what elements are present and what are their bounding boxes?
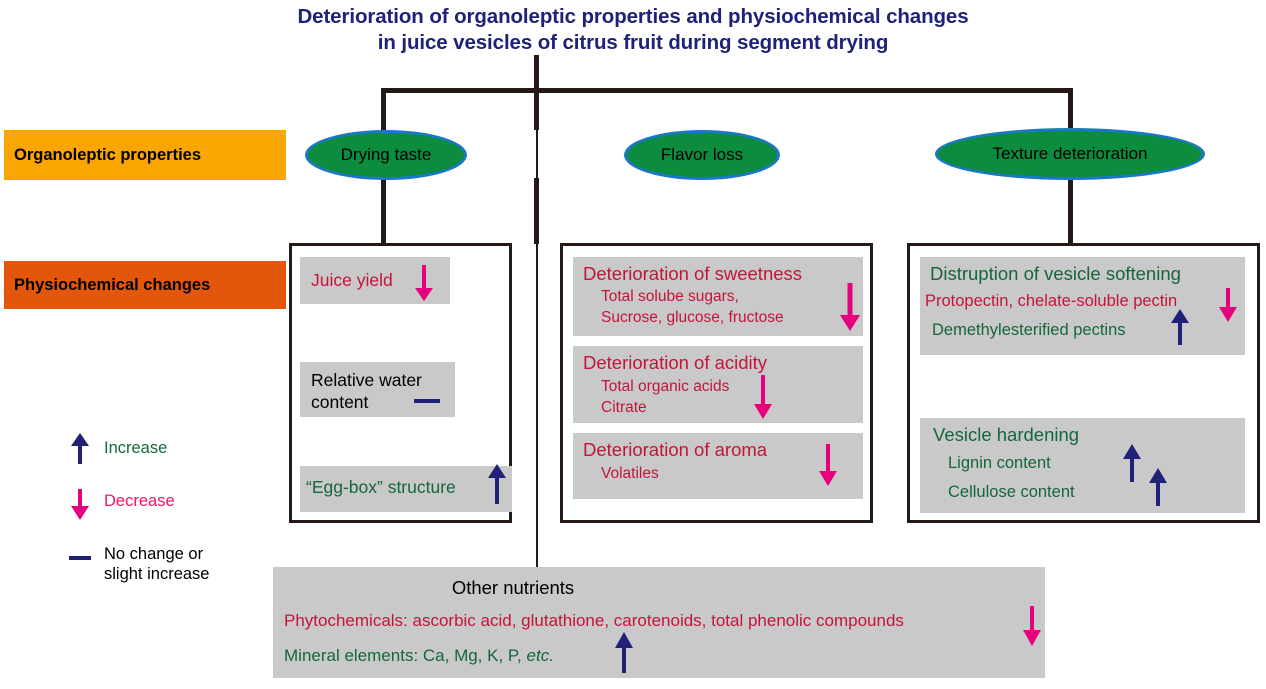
node-drying-taste-label: Drying taste bbox=[341, 145, 432, 165]
other-nutrients-phytochemicals: Phytochemicals: ascorbic acid, glutathio… bbox=[284, 611, 904, 631]
group-disruption-of-vesicle-softening: Distruption of vesicle softening Protope… bbox=[920, 257, 1245, 355]
category-label-physiochemical: Physiochemical changes bbox=[4, 261, 286, 309]
group-hardening-sub2: Cellulose content bbox=[948, 481, 1075, 503]
group-hardening-sub1: Lignin content bbox=[948, 452, 1051, 474]
group-hardening-heading: Vesicle hardening bbox=[933, 424, 1079, 446]
page-title: Deterioration of organoleptic properties… bbox=[0, 4, 1266, 56]
node-drying-taste[interactable]: Drying taste bbox=[305, 130, 467, 180]
group-vesicle-hardening: Vesicle hardening Lignin content Cellulo… bbox=[920, 418, 1245, 513]
item-relative-water-content-line1: Relative water bbox=[311, 369, 422, 391]
group-softening-sub2: Demethylesterified pectins bbox=[932, 319, 1126, 341]
legend-item-no-change-label-line1: No change or bbox=[104, 544, 209, 564]
other-nutrients-minerals-prefix: Mineral elements: Ca, Mg, K, P, bbox=[284, 646, 527, 665]
group-acidity-sub1: Total organic acids bbox=[601, 377, 729, 396]
node-flavor-loss-label: Flavor loss bbox=[661, 145, 743, 165]
legend-item-decrease-label: Decrease bbox=[104, 491, 175, 511]
panel-other-nutrients: Other nutrients Phytochemicals: ascorbic… bbox=[273, 567, 1045, 678]
up-arrow-icon bbox=[68, 432, 92, 466]
up-arrow-icon bbox=[486, 462, 508, 506]
down-arrow-icon bbox=[1021, 604, 1043, 648]
group-softening-heading: Distruption of vesicle softening bbox=[930, 263, 1181, 285]
up-arrow-icon bbox=[1147, 466, 1169, 508]
panel-flavor-loss: Deterioration of sweetness Total solube … bbox=[560, 243, 873, 523]
item-juice-yield-label: Juice yield bbox=[311, 269, 393, 291]
up-arrow-icon bbox=[1169, 307, 1191, 347]
group-deterioration-of-aroma: Deterioration of aroma Volatiles bbox=[573, 433, 863, 499]
group-acidity-heading: Deterioration of acidity bbox=[583, 352, 767, 374]
group-sweetness-heading: Deterioration of sweetness bbox=[583, 263, 802, 285]
title-line-2: in juice vesicles of citrus fruit during… bbox=[0, 30, 1266, 56]
title-line-1: Deterioration of organoleptic properties… bbox=[0, 4, 1266, 30]
down-arrow-icon bbox=[413, 263, 435, 303]
connector-branch-right bbox=[1068, 88, 1073, 130]
down-arrow-icon bbox=[68, 487, 92, 521]
legend-item-increase-label: Increase bbox=[104, 438, 167, 458]
other-nutrients-title: Other nutrients bbox=[273, 577, 753, 599]
legend-item-decrease: Decrease bbox=[68, 487, 175, 521]
node-flavor-loss[interactable]: Flavor loss bbox=[624, 130, 780, 180]
category-label-physiochemical-text: Physiochemical changes bbox=[14, 276, 210, 295]
down-arrow-icon bbox=[839, 281, 861, 333]
item-relative-water-content-line2: content bbox=[311, 391, 368, 413]
down-arrow-icon bbox=[817, 442, 839, 488]
connector-branch-left bbox=[381, 88, 386, 130]
group-acidity-sub2: Citrate bbox=[601, 398, 647, 417]
group-deterioration-of-acidity: Deterioration of acidity Total organic a… bbox=[573, 346, 863, 423]
connector-drop-left bbox=[381, 178, 386, 244]
connector-horizontal-bar bbox=[381, 88, 1073, 93]
legend-item-no-change-label-line2: slight increase bbox=[104, 564, 209, 584]
item-relative-water-content: Relative water content bbox=[300, 362, 455, 417]
legend-item-increase: Increase bbox=[68, 432, 167, 466]
item-egg-box-structure-label: “Egg-box” structure bbox=[306, 476, 456, 498]
category-label-organoleptic-text: Organoleptic properties bbox=[14, 146, 201, 165]
panel-drying-taste: Juice yield Relative water content “Egg-… bbox=[289, 243, 512, 523]
up-arrow-icon bbox=[1121, 442, 1143, 484]
legend: Increase Decrease No change or slight in… bbox=[68, 432, 288, 572]
node-texture-deterioration-label: Texture deterioration bbox=[993, 144, 1148, 164]
up-arrow-icon bbox=[613, 629, 635, 675]
group-deterioration-of-sweetness: Deterioration of sweetness Total solube … bbox=[573, 257, 863, 336]
group-aroma-sub1: Volatiles bbox=[601, 464, 659, 483]
group-softening-sub1: Protopectin, chelate-soluble pectin bbox=[925, 290, 1177, 312]
node-texture-deterioration[interactable]: Texture deterioration bbox=[935, 128, 1205, 180]
category-label-organoleptic: Organoleptic properties bbox=[4, 130, 286, 180]
group-aroma-heading: Deterioration of aroma bbox=[583, 439, 767, 461]
other-nutrients-minerals: Mineral elements: Ca, Mg, K, P, etc. bbox=[284, 646, 554, 666]
connector-to-other-nutrients bbox=[536, 88, 538, 568]
dash-icon bbox=[68, 548, 92, 568]
panel-texture-deterioration: Distruption of vesicle softening Protope… bbox=[907, 243, 1260, 523]
item-juice-yield: Juice yield bbox=[300, 257, 450, 304]
down-arrow-icon bbox=[1217, 286, 1239, 324]
dash-icon bbox=[412, 395, 442, 407]
group-sweetness-sub2: Sucrose, glucose, fructose bbox=[601, 308, 784, 327]
legend-item-no-change: No change or slight increase bbox=[68, 544, 209, 584]
connector-drop-right bbox=[1068, 178, 1073, 244]
other-nutrients-minerals-etc: etc. bbox=[527, 646, 554, 665]
item-egg-box-structure: “Egg-box” structure bbox=[300, 466, 512, 512]
down-arrow-icon bbox=[752, 373, 774, 421]
group-sweetness-sub1: Total solube sugars, bbox=[601, 287, 739, 306]
